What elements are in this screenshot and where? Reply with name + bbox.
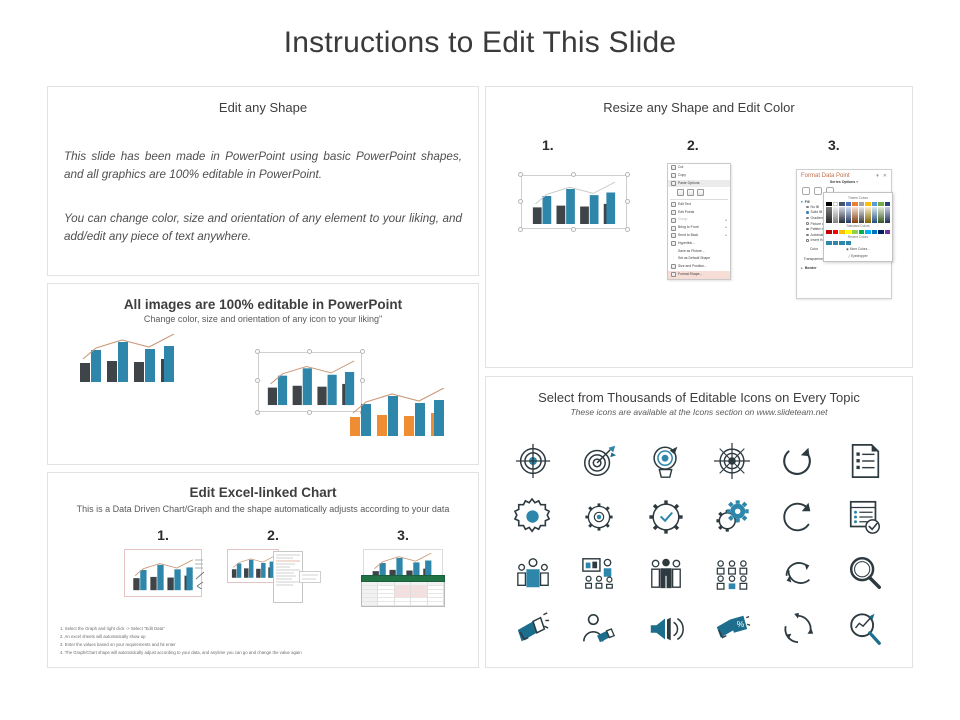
- resize-step-3-number: 3.: [786, 137, 906, 153]
- cut-icon: [671, 165, 676, 170]
- context-menu-item-size-and-position[interactable]: Size and Position...: [668, 263, 730, 271]
- recent-colors-label: Recent Colors: [826, 234, 890, 241]
- resize-handle-n[interactable]: [571, 172, 576, 177]
- radio-icon: [806, 206, 809, 209]
- edit-shape-paragraph-1: This slide has been made in PowerPoint u…: [64, 148, 462, 184]
- default-shape-icon: [671, 257, 676, 262]
- sync-arrows-icon[interactable]: [776, 551, 820, 595]
- context-menu-item-bring-to-front[interactable]: Bring to Front ▸: [668, 224, 730, 232]
- panel-title-resize-shape: Resize any Shape and Edit Color: [486, 100, 912, 115]
- menu-divider: [670, 199, 728, 200]
- panel-title-all-images: All images are 100% editable in PowerPoi…: [48, 297, 478, 312]
- resize-step-3: 3. Format Data Point ▾ ✕ Series Options: [786, 137, 906, 299]
- excel-step-3-art[interactable]: [348, 549, 458, 609]
- chevron-down-icon[interactable]: ▾: [876, 173, 879, 179]
- resize-step-2-art: Cut Copy Paste Options:: [641, 163, 771, 280]
- fill-line-icon[interactable]: [802, 187, 810, 195]
- excel-step-3: 3.: [348, 527, 458, 609]
- theme-colors-label: Theme Colors: [826, 195, 890, 202]
- crosshair-dark-icon[interactable]: [710, 439, 754, 483]
- resize-handle-s[interactable]: [571, 227, 576, 232]
- resize-handle-w[interactable]: [255, 378, 260, 383]
- gear-check-icon[interactable]: [644, 495, 688, 539]
- excel-spreadsheet-mock[interactable]: [361, 575, 445, 607]
- save-picture-icon: [671, 249, 676, 254]
- slide-canvas: Instructions to Edit This Slide Edit any…: [0, 0, 960, 720]
- people-group-icon[interactable]: [511, 551, 555, 595]
- page-title: Instructions to Edit This Slide: [0, 26, 960, 60]
- resize-handle-ne[interactable]: [625, 172, 630, 177]
- group-icon: [671, 218, 676, 223]
- presentation-audience-icon[interactable]: [577, 551, 621, 595]
- panel-edit-any-shape: Edit any Shape This slide has been made …: [47, 86, 479, 276]
- excel-step-1: 1.: [118, 527, 208, 597]
- excel-grid[interactable]: [361, 582, 445, 607]
- team-grid-icon[interactable]: [710, 551, 754, 595]
- chevron-right-icon: ▸: [725, 234, 727, 237]
- editable-chart-samples: [48, 330, 478, 450]
- context-menu-label: Bring to Front: [678, 226, 699, 230]
- refresh-arrow-icon[interactable]: [776, 439, 820, 483]
- resize-handle-se[interactable]: [625, 227, 630, 232]
- mini-submenu[interactable]: [299, 571, 321, 583]
- radio-icon: [806, 217, 809, 220]
- excel-step-2: 2.: [223, 527, 323, 607]
- panel-edit-excel-linked-chart: Edit Excel-linked Chart This is a Data D…: [47, 472, 479, 668]
- chevron-right-icon[interactable]: ▸: [801, 266, 803, 270]
- excel-instruction-4: 4. The Graph/Chart shape will automatica…: [60, 649, 478, 657]
- chevron-right-icon: ▸: [725, 219, 727, 222]
- context-menu-label: Edit Text: [678, 203, 691, 207]
- panel-subtitle-icons: These icons are available at the Icons s…: [486, 407, 912, 417]
- panel-title-excel-chart: Edit Excel-linked Chart: [48, 485, 478, 500]
- paste-keep-formatting-icon[interactable]: [677, 189, 684, 196]
- radio-icon: [806, 228, 809, 231]
- resize-handle-nw[interactable]: [518, 172, 523, 177]
- context-menu-item-group[interactable]: Group ▸: [668, 216, 730, 224]
- context-menu-label: Format Shape...: [678, 273, 702, 277]
- loudspeaker-icon[interactable]: [644, 607, 688, 651]
- border-label: Border: [805, 266, 817, 270]
- excel-step-3-number: 3.: [348, 527, 458, 543]
- panel-all-images-editable: All images are 100% editable in PowerPoi…: [47, 283, 479, 465]
- target-dart-icon[interactable]: [577, 439, 621, 483]
- resize-step-1: 1.: [514, 137, 634, 229]
- resize-handle-e[interactable]: [360, 378, 365, 383]
- refresh-circle-icon[interactable]: [776, 495, 820, 539]
- target-crosshair-icon[interactable]: [511, 439, 555, 483]
- format-pane-header: Format Data Point ▾ ✕: [797, 170, 891, 180]
- resize-step-2: 2. Cut Copy Paste Options:: [641, 137, 771, 280]
- format-pane-title: Format Data Point: [801, 173, 850, 179]
- gear-filled-icon[interactable]: [511, 495, 555, 539]
- edit-text-icon: [671, 202, 676, 207]
- resize-handle-w[interactable]: [518, 199, 523, 204]
- theme-colors-row[interactable]: [826, 202, 890, 206]
- palette-icon: ◉: [846, 247, 849, 251]
- resize-handle-e[interactable]: [625, 199, 630, 204]
- excel-step-2-number: 2.: [223, 527, 323, 543]
- fill-option-label: Solid fill: [811, 210, 823, 214]
- send-to-back-icon: [671, 233, 676, 238]
- recent-colors-row[interactable]: [826, 241, 890, 245]
- resize-steps-row: 1.: [486, 137, 912, 367]
- panel-title-icons: Select from Thousands of Editable Icons …: [486, 390, 912, 405]
- fill-label: Fill: [805, 200, 810, 204]
- context-menu-label: Edit Points: [678, 211, 694, 215]
- context-menu-item-edit-text[interactable]: Edit Text: [668, 201, 730, 209]
- target-stand-icon[interactable]: [644, 439, 688, 483]
- panel-subtitle-all-images: Change color, size and orientation of an…: [48, 314, 478, 324]
- bar-chart-sample-2-selected[interactable]: [258, 352, 362, 412]
- radio-icon: [806, 222, 809, 225]
- circular-arrows-icon[interactable]: [776, 607, 820, 651]
- context-menu-item-send-to-back[interactable]: Send to Back ▸: [668, 232, 730, 240]
- excel-instruction-2: 2. An excel sheets will automatically sh…: [60, 633, 478, 641]
- fill-option-label: No fill: [811, 205, 819, 209]
- close-icon[interactable]: ✕: [883, 173, 887, 179]
- context-menu-item-set-default-shape[interactable]: Set as Default Shape: [668, 255, 730, 263]
- size-position-icon: [671, 264, 676, 269]
- panel-subtitle-excel-chart: This is a Data Driven Chart/Graph and th…: [68, 503, 458, 515]
- magnifier-icon[interactable]: [843, 551, 887, 595]
- document-verified-icon[interactable]: [843, 495, 887, 539]
- paste-option-buttons[interactable]: [668, 187, 730, 198]
- context-menu-item-save-as-picture[interactable]: Save as Picture...: [668, 248, 730, 256]
- context-menu-item-cut[interactable]: Cut: [668, 164, 730, 172]
- excel-title-bar: [361, 575, 445, 582]
- eyedropper-icon: ╱: [848, 254, 850, 258]
- format-data-point-pane[interactable]: Format Data Point ▾ ✕ Series Options ▾: [796, 169, 892, 299]
- context-menu-label: Set as Default Shape: [678, 257, 710, 261]
- bar-chart-sample-1[interactable]: [78, 334, 176, 382]
- checkbox-icon: [806, 239, 809, 242]
- panel-resize-shape-edit-color: Resize any Shape and Edit Color 1.: [485, 86, 913, 368]
- context-menu-item-format-shape[interactable]: Format Shape...: [668, 271, 730, 279]
- edit-shape-paragraph-2: You can change color, size and orientati…: [64, 210, 462, 246]
- paste-icon: [671, 181, 676, 186]
- context-menu-label: Size and Position...: [678, 265, 707, 269]
- panel-editable-icons: Select from Thousands of Editable Icons …: [485, 376, 913, 668]
- team-three-icon[interactable]: [644, 551, 688, 595]
- gears-pair-icon[interactable]: [710, 495, 754, 539]
- excel-instructions-list: 1. Select the Graph and right click -> S…: [60, 625, 478, 657]
- context-menu-label: Copy: [678, 174, 686, 178]
- excel-instruction-1: 1. Select the Graph and right click -> S…: [60, 625, 478, 633]
- resize-step-3-art: Format Data Point ▾ ✕ Series Options ▾: [786, 169, 906, 299]
- chevron-down-icon[interactable]: ▾: [856, 180, 858, 184]
- icon-grid: %: [500, 439, 898, 651]
- standard-colors-label: Standard Colors: [826, 223, 890, 230]
- context-menu-label: Save as Picture...: [678, 250, 705, 254]
- eyedropper-label: Eyedropper: [851, 254, 867, 258]
- panel-title-edit-shape: Edit any Shape: [48, 100, 478, 115]
- person-megaphone-icon[interactable]: [577, 607, 621, 651]
- excel-step-2-art[interactable]: [223, 549, 323, 607]
- paste-picture-icon[interactable]: [697, 189, 704, 196]
- radio-icon: [806, 234, 809, 237]
- context-menu-item-paste-options[interactable]: Paste Options:: [668, 180, 730, 188]
- excel-step-1-art[interactable]: [118, 549, 208, 597]
- context-menu-label: Cut: [678, 166, 683, 170]
- context-menu-item-copy[interactable]: Copy: [668, 172, 730, 180]
- chevron-right-icon: ▸: [725, 226, 727, 229]
- resize-handle-sw[interactable]: [518, 227, 523, 232]
- effects-icon[interactable]: [814, 187, 822, 195]
- more-colors-item[interactable]: ◉ More Colors...: [826, 245, 890, 252]
- resize-handle-ne[interactable]: [360, 349, 365, 354]
- magnifier-target-icon[interactable]: [843, 607, 887, 651]
- context-menu-label: Send to Back: [678, 234, 698, 238]
- edit-points-icon: [671, 210, 676, 215]
- eyedropper-item[interactable]: ╱ Eyedropper: [826, 252, 890, 259]
- resize-handle-s[interactable]: [307, 410, 312, 415]
- megaphone-percent-icon[interactable]: %: [710, 607, 754, 651]
- gear-small-icon[interactable]: [577, 495, 621, 539]
- context-menu-item-edit-points[interactable]: Edit Points: [668, 209, 730, 217]
- resize-step-1-art[interactable]: [514, 175, 634, 229]
- resize-handle-n[interactable]: [307, 349, 312, 354]
- context-menu-label: Paste Options:: [678, 182, 700, 186]
- excel-steps-row: 1.: [48, 527, 478, 619]
- context-menu-item-hyperlink[interactable]: Hyperlink...: [668, 240, 730, 248]
- standard-colors-row[interactable]: [826, 230, 890, 234]
- series-options-label: Series Options: [830, 180, 855, 184]
- svg-text:%: %: [737, 619, 745, 629]
- format-shape-icon: [671, 272, 676, 277]
- border-group-header[interactable]: ▸ Border: [797, 266, 891, 270]
- copy-icon: [671, 173, 676, 178]
- excel-instruction-3: 3. Enter the values based on your requir…: [60, 641, 478, 649]
- megaphone-icon[interactable]: [511, 607, 555, 651]
- theme-colors-tints[interactable]: [826, 207, 890, 223]
- radio-icon: [806, 211, 809, 214]
- paste-merge-formatting-icon[interactable]: [687, 189, 694, 196]
- chevron-down-icon[interactable]: ▾: [801, 200, 803, 204]
- context-menu-label: Group: [678, 218, 687, 222]
- color-picker-popup[interactable]: Theme Colors: [823, 192, 893, 262]
- resize-step-2-number: 2.: [641, 137, 771, 153]
- checklist-document-icon[interactable]: [843, 439, 887, 483]
- resize-handle-sw[interactable]: [255, 410, 260, 415]
- format-pane-window-controls[interactable]: ▾ ✕: [876, 173, 887, 179]
- hyperlink-icon: [671, 241, 676, 246]
- powerpoint-context-menu[interactable]: Cut Copy Paste Options:: [667, 163, 731, 280]
- context-menu-label: Hyperlink...: [678, 242, 695, 246]
- excel-step-1-number: 1.: [118, 527, 208, 543]
- bar-chart-sample-3[interactable]: [348, 388, 446, 436]
- more-colors-label: More Colors...: [850, 247, 870, 251]
- resize-handle-nw[interactable]: [255, 349, 260, 354]
- resize-step-1-number: 1.: [514, 137, 634, 153]
- bring-to-front-icon: [671, 226, 676, 231]
